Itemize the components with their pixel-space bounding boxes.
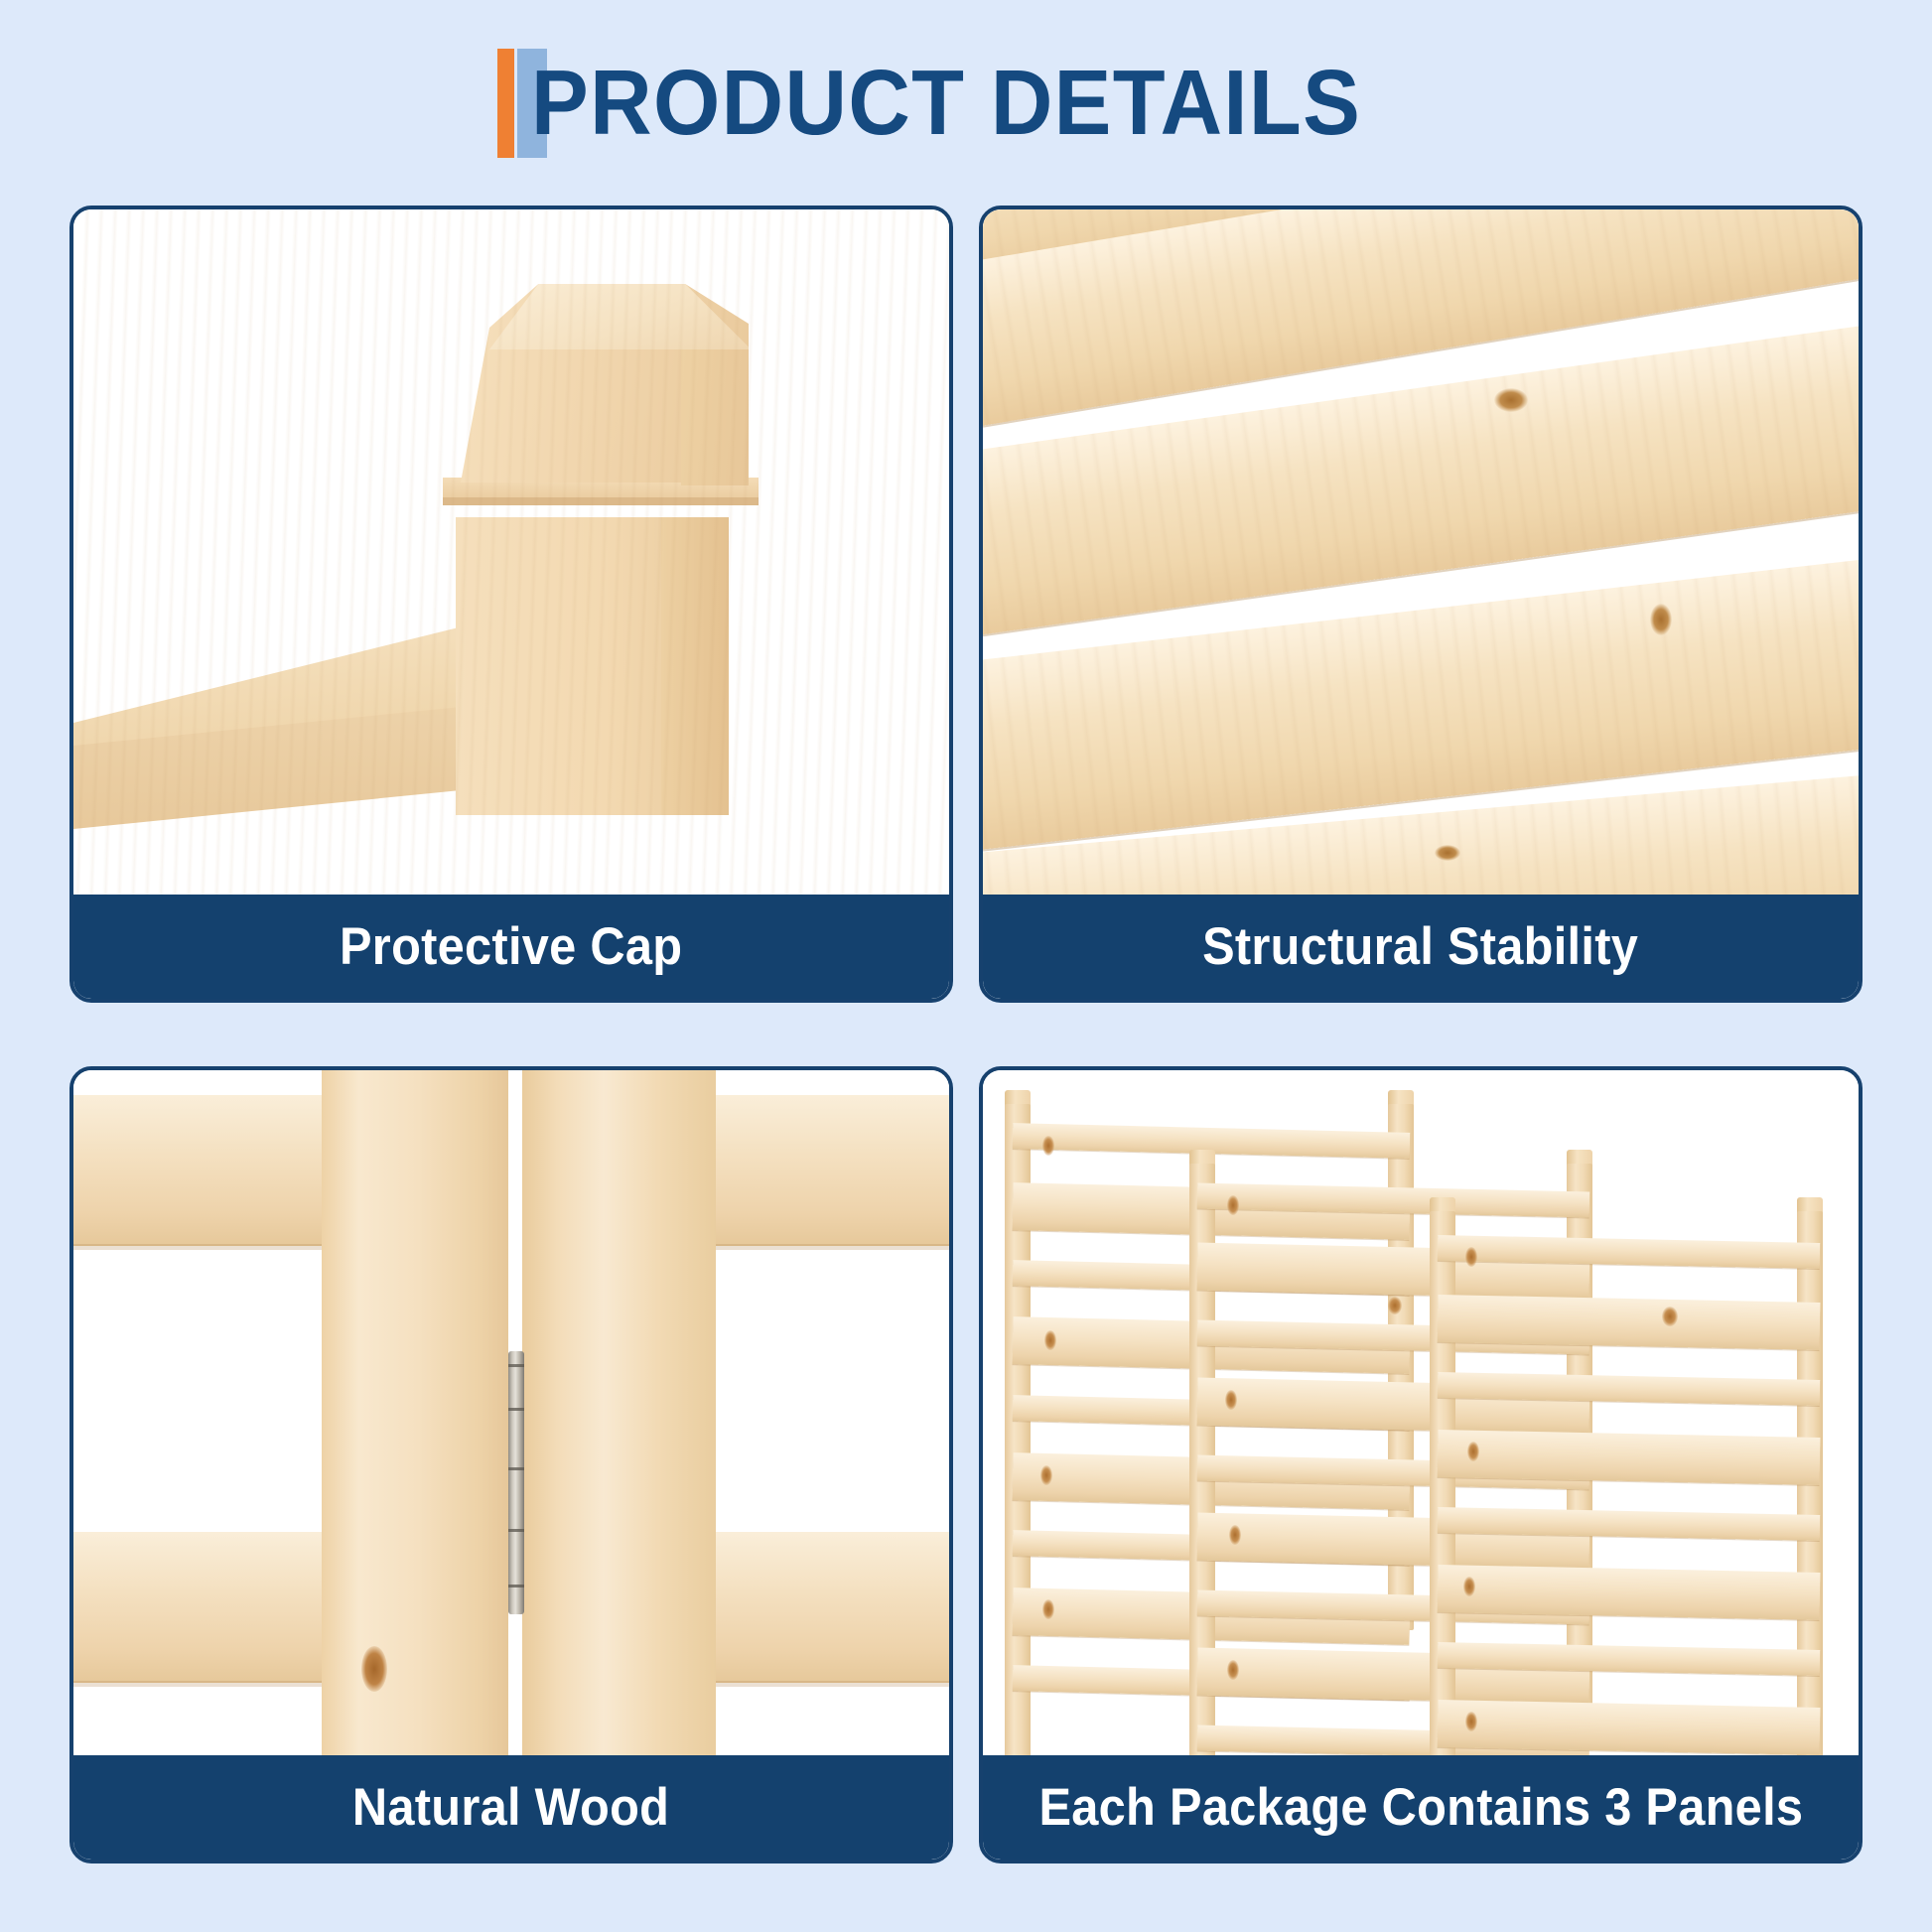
metal-hinge-icon bbox=[508, 1351, 524, 1614]
diagonal-slats-illustration-icon bbox=[983, 209, 1859, 895]
post-body-side bbox=[661, 517, 729, 815]
card-image-natural-wood bbox=[73, 1070, 949, 1755]
slat-shadow bbox=[689, 1681, 949, 1687]
accent-bar-orange-icon bbox=[497, 49, 514, 158]
card-label-three-panels: Each Package Contains 3 Panels bbox=[983, 1755, 1859, 1860]
hinge-segment-line bbox=[508, 1529, 524, 1532]
slat-right-lower bbox=[689, 1532, 949, 1683]
slat-shadow bbox=[73, 1681, 351, 1687]
wood-knot-icon bbox=[1227, 1660, 1239, 1680]
slat-shadow bbox=[73, 1244, 351, 1250]
card-label-text: Each Package Contains 3 Panels bbox=[1038, 1777, 1803, 1838]
card-label-natural-wood: Natural Wood bbox=[73, 1755, 949, 1860]
slat-shadow bbox=[689, 1244, 949, 1250]
three-panels-illustration-icon bbox=[983, 1070, 1859, 1755]
wood-knot-icon bbox=[1042, 1136, 1054, 1156]
card-image-three-panels bbox=[983, 1070, 1859, 1755]
wood-knot-icon bbox=[1227, 1195, 1239, 1215]
slat bbox=[1438, 1565, 1821, 1620]
card-label-protective-cap: Protective Cap bbox=[73, 895, 949, 999]
hinge-segment-line bbox=[508, 1364, 524, 1367]
card-label-text: Protective Cap bbox=[340, 916, 682, 977]
wood-knot-icon bbox=[1225, 1390, 1237, 1410]
slat bbox=[1438, 1430, 1821, 1485]
cap-base-shelf-edge bbox=[443, 497, 759, 505]
wood-knot-icon bbox=[1435, 845, 1460, 861]
card-image-protective-cap bbox=[73, 209, 949, 895]
cap-gap bbox=[453, 503, 751, 517]
page-title: PRODUCT DETAILS bbox=[531, 57, 1361, 149]
hinge-segment-line bbox=[508, 1408, 524, 1411]
wood-knot-icon bbox=[1467, 1442, 1479, 1461]
page-header: PRODUCT DETAILS bbox=[0, 0, 1932, 206]
wood-knot-icon bbox=[1465, 1247, 1477, 1267]
wood-knot-icon bbox=[1388, 1297, 1402, 1314]
product-details-grid: Protective Cap Structural Stability bbox=[69, 206, 1863, 1863]
wood-knot-icon bbox=[1494, 388, 1528, 412]
slat-left-upper bbox=[73, 1095, 351, 1246]
wood-knot-icon bbox=[1229, 1525, 1241, 1545]
card-protective-cap[interactable]: Protective Cap bbox=[69, 206, 953, 1003]
hinge-segment-line bbox=[508, 1467, 524, 1470]
card-natural-wood[interactable]: Natural Wood bbox=[69, 1066, 953, 1863]
wood-knot-icon bbox=[1650, 604, 1672, 635]
wood-knot-icon bbox=[361, 1646, 387, 1692]
post-left bbox=[322, 1070, 508, 1755]
slat-right-upper bbox=[689, 1095, 949, 1246]
wood-knot-icon bbox=[1040, 1465, 1052, 1485]
card-each-package-contains-3-panels[interactable]: Each Package Contains 3 Panels bbox=[979, 1066, 1863, 1863]
card-structural-stability[interactable]: Structural Stability bbox=[979, 206, 1863, 1003]
card-label-text: Natural Wood bbox=[352, 1777, 669, 1838]
wood-knot-icon bbox=[1042, 1599, 1054, 1619]
card-label-text: Structural Stability bbox=[1202, 916, 1638, 977]
slat bbox=[1438, 1295, 1821, 1350]
post-left bbox=[1430, 1211, 1455, 1755]
slat-left-lower bbox=[73, 1532, 351, 1683]
post-cap-illustration-icon bbox=[73, 209, 949, 895]
post-right bbox=[522, 1070, 716, 1755]
title-group: PRODUCT DETAILS bbox=[497, 45, 1424, 162]
hinge-detail-illustration-icon bbox=[73, 1070, 949, 1755]
wood-knot-icon bbox=[1662, 1307, 1678, 1326]
wood-knot-icon bbox=[1044, 1330, 1056, 1350]
wood-knot-icon bbox=[1463, 1577, 1475, 1596]
wood-knot-icon bbox=[1465, 1712, 1477, 1731]
card-label-structural-stability: Structural Stability bbox=[983, 895, 1859, 999]
slat bbox=[1438, 1700, 1821, 1755]
card-image-structural-stability bbox=[983, 209, 1859, 895]
hinge-segment-line bbox=[508, 1585, 524, 1587]
